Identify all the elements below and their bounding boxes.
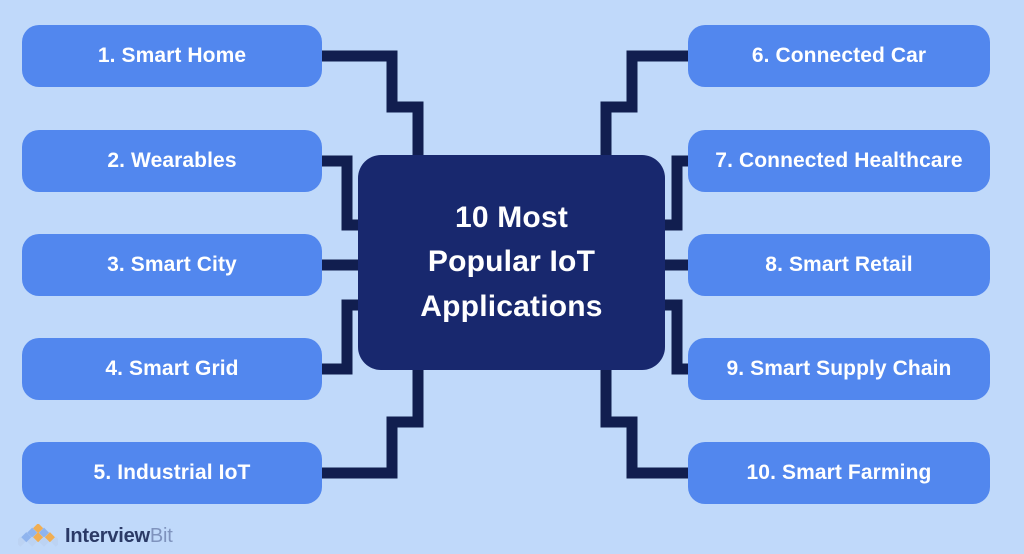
item-label-2: 2. Wearables (107, 149, 236, 173)
logo-text-bit: Bit (150, 525, 173, 547)
connector-right-9 (664, 305, 690, 369)
item-card-10[interactable]: 10. Smart Farming (688, 442, 990, 504)
hub-title: 10 Most Popular IoT Applications (420, 196, 602, 328)
item-label-6: 6. Connected Car (752, 44, 926, 68)
connector-right-10 (606, 365, 690, 473)
item-label-8: 8. Smart Retail (765, 253, 912, 277)
item-label-9: 9. Smart Supply Chain (727, 357, 952, 381)
item-label-10: 10. Smart Farming (747, 461, 932, 485)
connector-left-4 (322, 305, 360, 369)
item-label-5: 5. Industrial IoT (94, 461, 251, 485)
item-label-7: 7. Connected Healthcare (715, 149, 962, 173)
center-hub: 10 Most Popular IoT Applications (358, 155, 665, 370)
interviewbit-wordmark: InterviewBit (65, 526, 173, 546)
item-card-3[interactable]: 3. Smart City (22, 234, 322, 296)
connector-left-2 (322, 161, 360, 225)
item-label-1: 1. Smart Home (98, 44, 246, 68)
item-card-6[interactable]: 6. Connected Car (688, 25, 990, 87)
connector-left-5 (322, 365, 418, 473)
item-card-8[interactable]: 8. Smart Retail (688, 234, 990, 296)
item-label-3: 3. Smart City (107, 253, 237, 277)
item-card-1[interactable]: 1. Smart Home (22, 25, 322, 87)
infographic-canvas: 1. Smart Home 2. Wearables 3. Smart City… (0, 0, 1024, 554)
item-card-4[interactable]: 4. Smart Grid (22, 338, 322, 400)
item-card-7[interactable]: 7. Connected Healthcare (688, 130, 990, 192)
connector-left-1 (322, 56, 418, 170)
item-label-4: 4. Smart Grid (105, 357, 238, 381)
interviewbit-diamond-icon (18, 524, 58, 548)
logo-text-interview: Interview (65, 525, 150, 547)
item-card-2[interactable]: 2. Wearables (22, 130, 322, 192)
item-card-9[interactable]: 9. Smart Supply Chain (688, 338, 990, 400)
connector-right-7 (664, 161, 690, 225)
connector-right-6 (606, 56, 690, 170)
item-card-5[interactable]: 5. Industrial IoT (22, 442, 322, 504)
interviewbit-logo[interactable]: InterviewBit (18, 521, 173, 551)
